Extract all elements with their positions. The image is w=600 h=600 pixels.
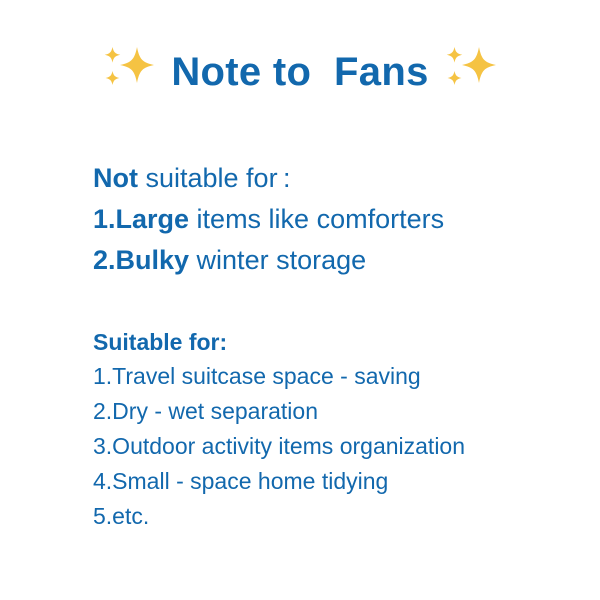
note-to-fans-poster: Note to Fans Not suitable for : 1.Large … xyxy=(0,0,600,600)
suitable-item: 5.etc. xyxy=(93,499,563,534)
suitable-item: 4.Small - space home tidying xyxy=(93,464,563,499)
not-suitable-item-rest: winter storage xyxy=(189,245,366,275)
not-suitable-item: 2.Bulky winter storage xyxy=(93,240,563,281)
not-suitable-item-emphasis: 1.Large xyxy=(93,204,189,234)
suitable-item: 1.Travel suitcase space - saving xyxy=(93,359,563,394)
sparkles-icon xyxy=(443,44,499,99)
suitable-heading: Suitable for: xyxy=(93,325,563,359)
suitable-section: Suitable for: 1.Travel suitcase space - … xyxy=(93,325,563,534)
suitable-item: 2.Dry - wet separation xyxy=(93,394,563,429)
not-suitable-heading: Not suitable for : xyxy=(93,158,563,199)
not-suitable-item-rest: items like comforters xyxy=(189,204,444,234)
sparkles-icon xyxy=(101,44,157,99)
suitable-item: 3.Outdoor activity items organization xyxy=(93,429,563,464)
not-suitable-item-emphasis: 2.Bulky xyxy=(93,245,189,275)
not-suitable-heading-emphasis: Not xyxy=(93,163,138,193)
page-title: Note to Fans xyxy=(171,52,428,92)
page-title-row: Note to Fans xyxy=(0,44,600,99)
not-suitable-item: 1.Large items like comforters xyxy=(93,199,563,240)
not-suitable-section: Not suitable for : 1.Large items like co… xyxy=(93,158,563,281)
not-suitable-heading-rest: suitable for : xyxy=(138,163,290,193)
